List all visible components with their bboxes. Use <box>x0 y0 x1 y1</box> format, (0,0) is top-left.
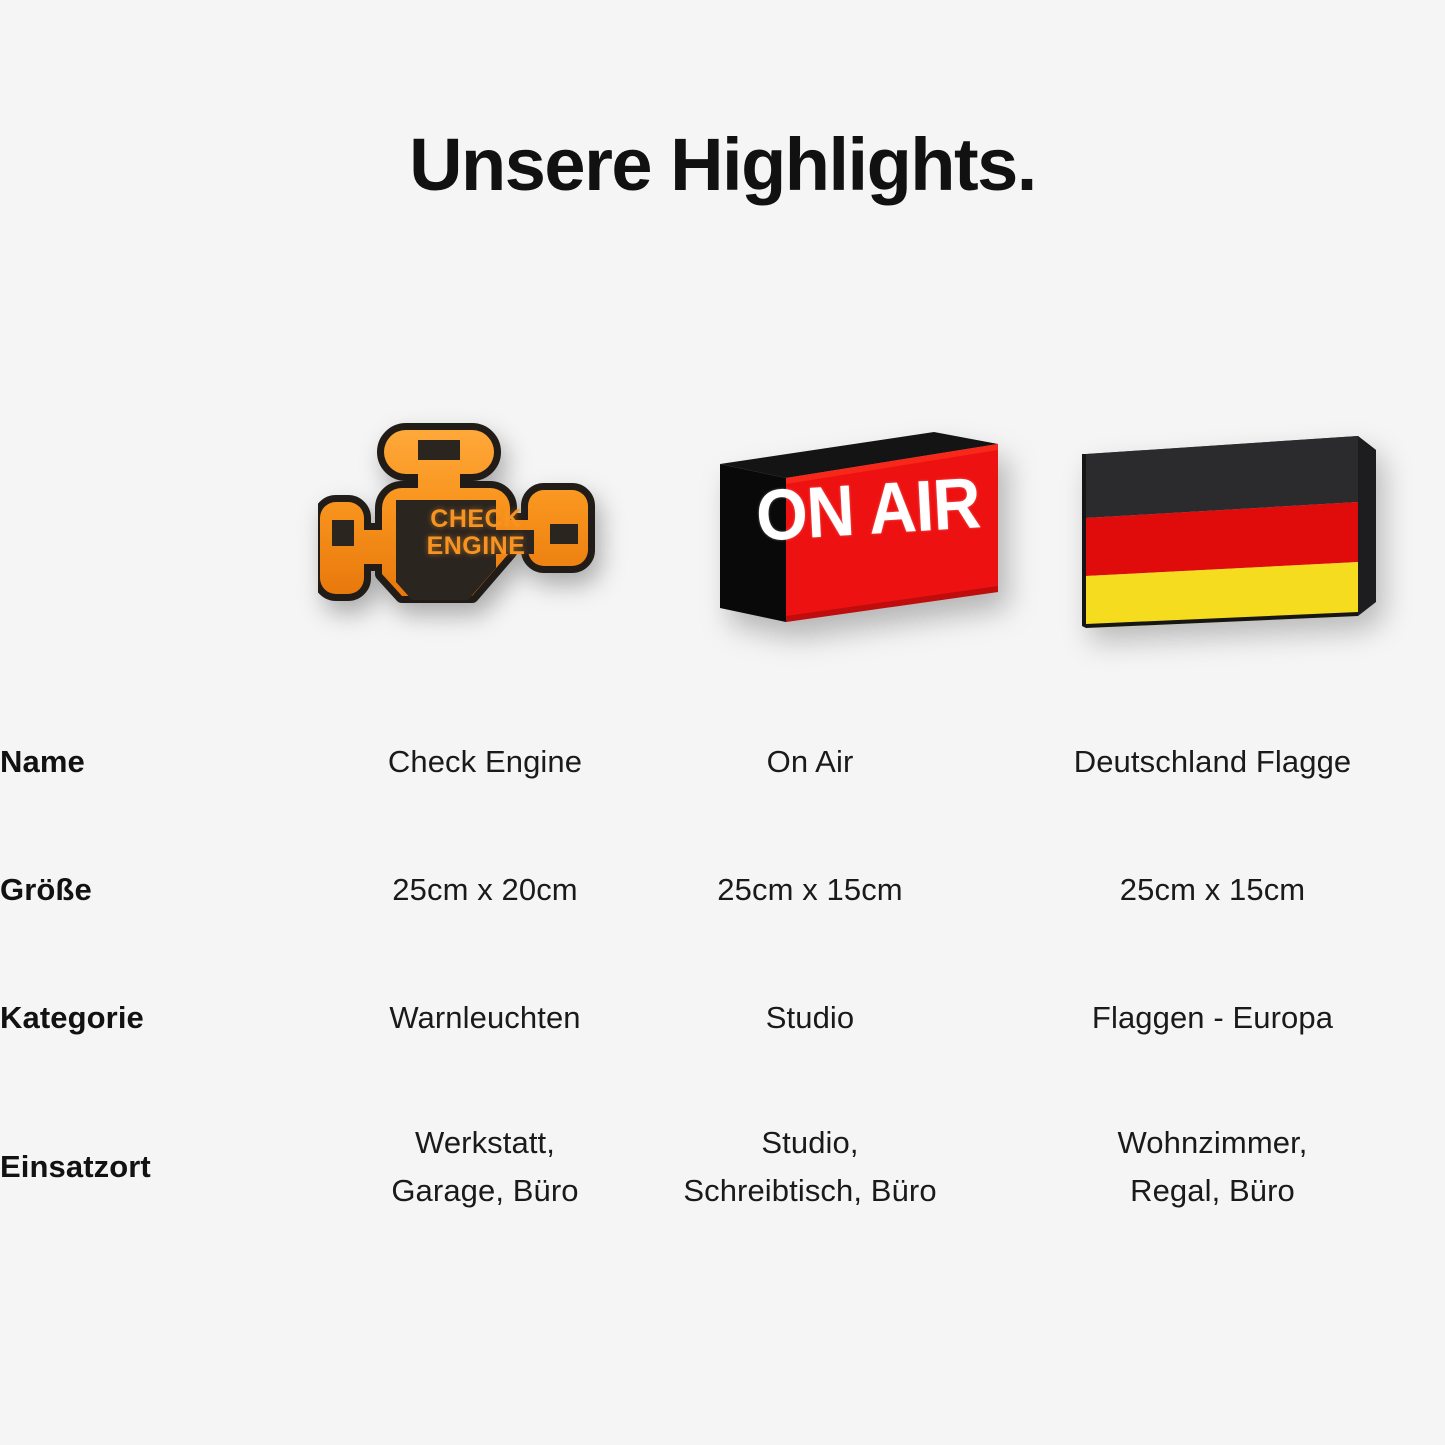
cell-kategorie-check-engine: Warnleuchten <box>330 954 640 1082</box>
cell-groesse-check-engine: 25cm x 20cm <box>330 826 640 954</box>
cell-line-1: Werkstatt, <box>330 1119 640 1167</box>
cell-einsatzort-check-engine: Werkstatt, Garage, Büro <box>330 1082 640 1252</box>
german-flag-lightbox-icon <box>1072 426 1384 638</box>
cell-line-1: Wohnzimmer, <box>980 1119 1445 1167</box>
cell-line-2: Regal, Büro <box>980 1167 1445 1215</box>
spec-table: Name Check Engine On Air Deutschland Fla… <box>0 698 1445 1252</box>
cell-line-2: Garage, Büro <box>330 1167 640 1215</box>
check-engine-lamp-icon: CHECK ENGINE <box>318 422 633 644</box>
row-label-einsatzort: Einsatzort <box>0 1082 330 1252</box>
cell-groesse-on-air: 25cm x 15cm <box>640 826 980 954</box>
table-row: Einsatzort Werkstatt, Garage, Büro Studi… <box>0 1082 1445 1252</box>
product-image-check-engine[interactable]: CHECK ENGINE <box>300 408 680 670</box>
row-label-name: Name <box>0 698 330 826</box>
row-label-groesse: Größe <box>0 826 330 954</box>
table-row: Kategorie Warnleuchten Studio Flaggen - … <box>0 954 1445 1082</box>
product-image-deutschland-flagge[interactable] <box>1040 408 1420 670</box>
cell-kategorie-on-air: Studio <box>640 954 980 1082</box>
cell-name-deutschland-flagge: Deutschland Flagge <box>980 698 1445 826</box>
cell-einsatzort-deutschland-flagge: Wohnzimmer, Regal, Büro <box>980 1082 1445 1252</box>
cell-line-1: Studio, <box>640 1119 980 1167</box>
on-air-box-shape <box>698 426 1018 641</box>
table-row: Name Check Engine On Air Deutschland Fla… <box>0 698 1445 826</box>
german-flag-box-shape <box>1072 426 1384 638</box>
check-engine-shape <box>318 422 633 644</box>
cell-kategorie-deutschland-flagge: Flaggen - Europa <box>980 954 1445 1082</box>
cell-groesse-deutschland-flagge: 25cm x 15cm <box>980 826 1445 954</box>
product-image-row: CHECK ENGINE ON <box>300 408 1420 670</box>
cell-name-check-engine: Check Engine <box>330 698 640 826</box>
row-label-kategorie: Kategorie <box>0 954 330 1082</box>
page-title: Unsere Highlights. <box>0 128 1445 202</box>
cell-line-2: Schreibtisch, Büro <box>640 1167 980 1215</box>
highlights-page: Unsere Highlights. <box>0 0 1445 1445</box>
cell-name-on-air: On Air <box>640 698 980 826</box>
on-air-lightbox-icon: ON AIR <box>698 426 1018 641</box>
table-row: Größe 25cm x 20cm 25cm x 15cm 25cm x 15c… <box>0 826 1445 954</box>
product-image-on-air[interactable]: ON AIR <box>680 408 1040 670</box>
cell-einsatzort-on-air: Studio, Schreibtisch, Büro <box>640 1082 980 1252</box>
